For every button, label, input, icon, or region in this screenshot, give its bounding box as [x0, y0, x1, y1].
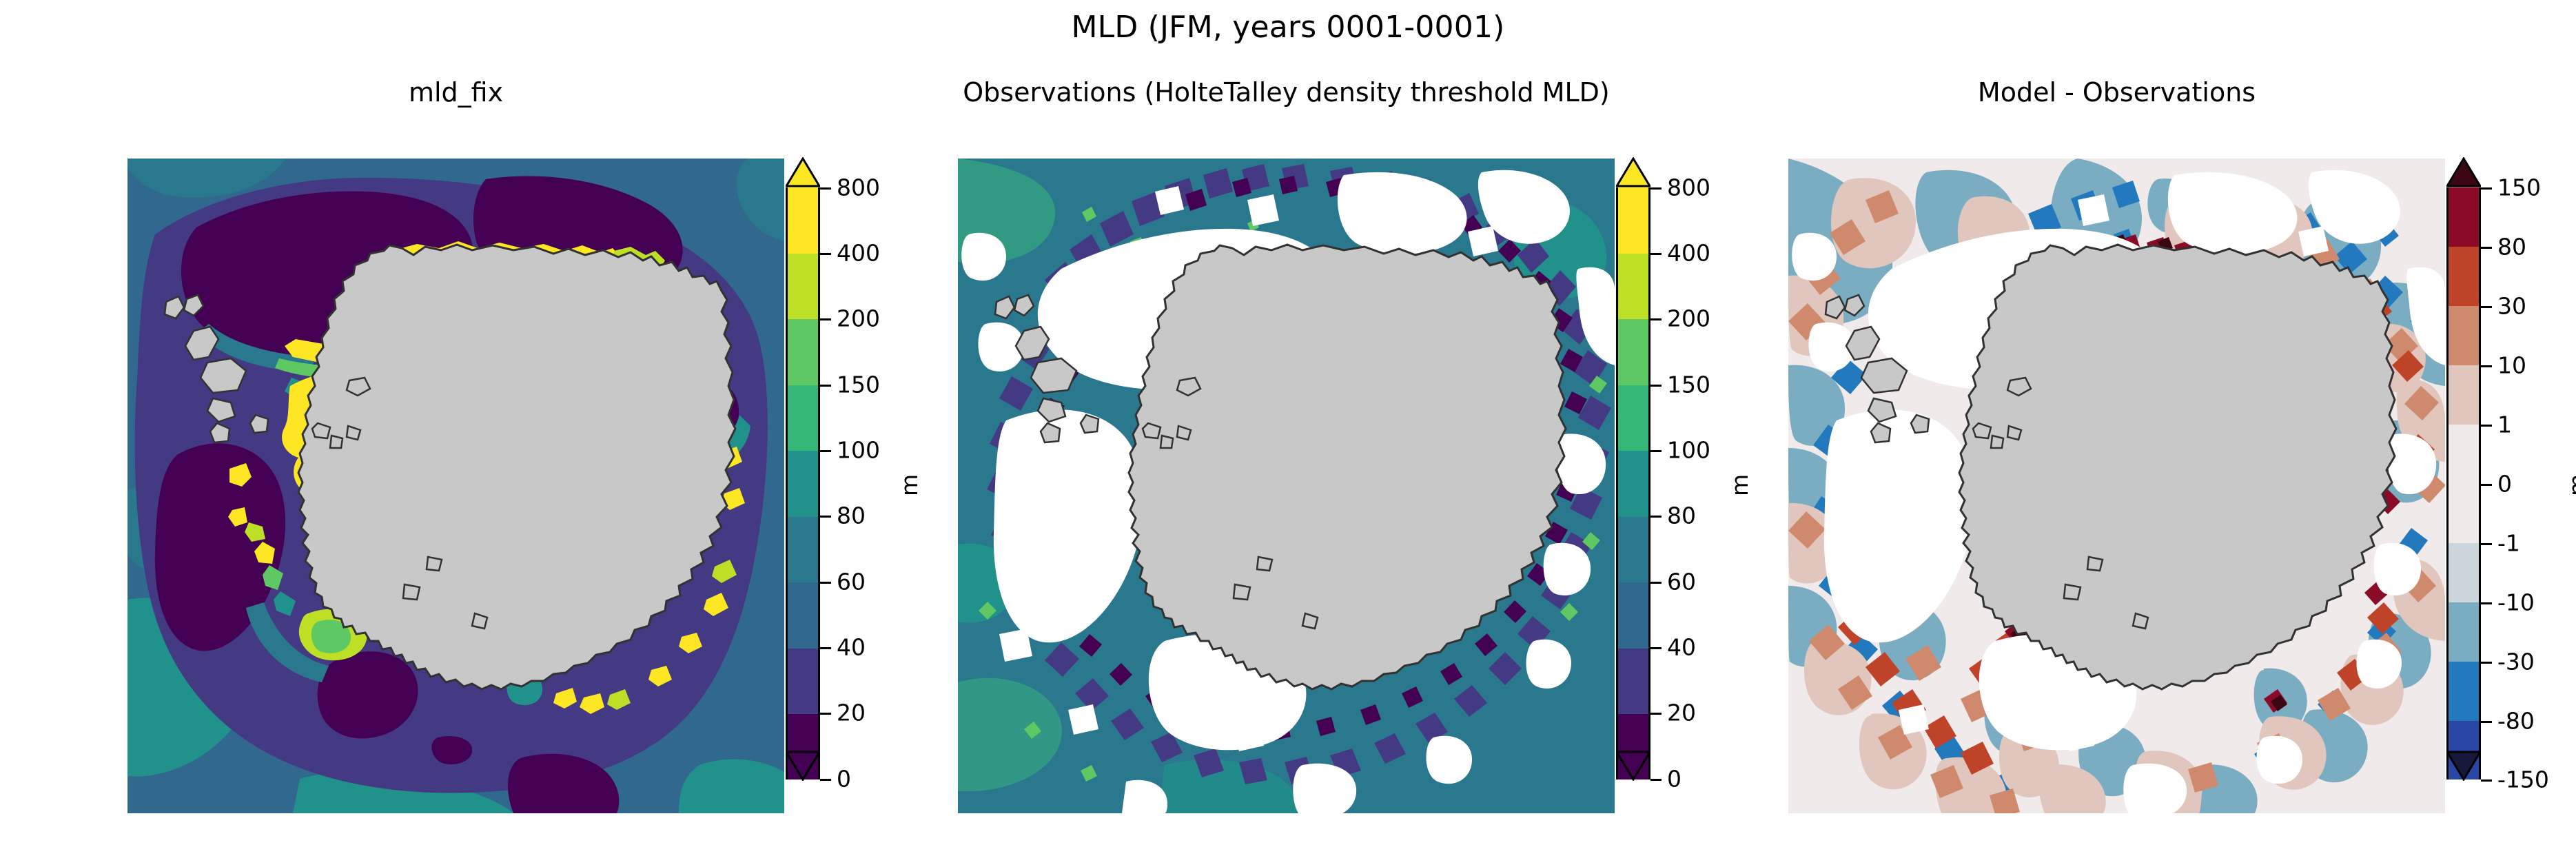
cbar-tick-label: 800	[837, 176, 880, 199]
cbar-tick-label: 150	[2497, 176, 2541, 199]
map-panel-difference[interactable]	[1788, 159, 2445, 813]
cbar-tick-label: -150	[2497, 768, 2549, 791]
cbar-tick-label: 60	[1667, 571, 1696, 593]
colorbar-model[interactable]: 800 400 200 150 100 80 60 40 20 0 m	[786, 159, 820, 779]
cbar-tick	[1650, 582, 1662, 584]
cbar-tick-label: 100	[1667, 439, 1710, 462]
cbar-tick-label: 10	[2497, 354, 2526, 377]
cbar-extend-over	[786, 157, 820, 187]
cbar-tick-label: -80	[2497, 710, 2535, 733]
cbar-tick-label: 80	[1667, 505, 1696, 527]
panel-title-observations: Observations (HolteTalley density thresh…	[958, 77, 1615, 108]
cbar-tick	[1650, 385, 1662, 387]
cbar-tick	[2481, 306, 2492, 308]
cbar-tick-label: 80	[837, 505, 866, 527]
cbar-tick	[2481, 543, 2492, 545]
cbar-tick	[1650, 647, 1662, 649]
model-mld-map	[127, 159, 784, 813]
cbar-tick	[2481, 484, 2492, 486]
cbar-tick	[820, 647, 831, 649]
colorbar-unit-label: m	[1726, 474, 1753, 496]
cbar-tick-label: 200	[1667, 307, 1710, 330]
cbar-tick-label: 0	[2497, 473, 2512, 496]
cbar-tick	[2481, 365, 2492, 367]
cbar-tick	[1650, 713, 1662, 715]
cbar-tick	[2481, 662, 2492, 664]
cbar-tick-label: 400	[1667, 242, 1710, 265]
cbar-extend-under	[786, 751, 820, 781]
cbar-tick	[2481, 187, 2492, 190]
cbar-tick-label: 20	[1667, 702, 1696, 724]
colorbar-difference[interactable]: 150 80 30 10 1 0 -1 -10 -30 -80 -150 m	[2446, 159, 2481, 779]
panel-title-difference: Model - Observations	[1788, 77, 2445, 108]
cbar-tick	[820, 187, 831, 190]
cbar-tick-label: 40	[1667, 636, 1696, 659]
cbar-outline	[786, 187, 820, 779]
cbar-tick	[1650, 318, 1662, 320]
cbar-tick	[820, 385, 831, 387]
model-minus-obs-map	[1788, 159, 2445, 813]
cbar-tick	[2481, 602, 2492, 604]
cbar-tick	[820, 318, 831, 320]
cbar-tick	[2481, 425, 2492, 427]
cbar-tick-label: 0	[837, 768, 851, 791]
cbar-tick	[1650, 187, 1662, 190]
cbar-extend-under	[2446, 751, 2481, 781]
panel-title-model: mld_fix	[127, 77, 784, 108]
colorbar-unit-label: m	[2564, 474, 2576, 496]
cbar-tick	[1650, 779, 1662, 781]
cbar-extend-over	[2446, 157, 2481, 187]
cbar-tick-label: -30	[2497, 651, 2535, 673]
cbar-tick	[820, 582, 831, 584]
cbar-tick-label: 400	[837, 242, 880, 265]
cbar-tick-label: 30	[2497, 295, 2526, 318]
cbar-tick-label: 200	[837, 307, 880, 330]
cbar-tick	[820, 779, 831, 781]
cbar-tick-label: 1	[2497, 414, 2512, 436]
cbar-tick	[2481, 779, 2492, 782]
cbar-extend-over	[1616, 157, 1650, 187]
cbar-extend-under	[1616, 751, 1650, 781]
cbar-tick-label: -1	[2497, 532, 2520, 555]
cbar-tick	[2481, 721, 2492, 723]
cbar-tick-label: 80	[2497, 236, 2526, 258]
cbar-tick	[820, 516, 831, 518]
cbar-tick-label: 0	[1667, 768, 1681, 791]
colorbar-unit-label: m	[896, 474, 923, 496]
cbar-outline	[2446, 187, 2481, 779]
cbar-tick-label: 40	[837, 636, 866, 659]
observations-mld-map	[958, 159, 1615, 813]
cbar-tick-label: 20	[837, 702, 866, 724]
cbar-tick-label: 150	[1667, 374, 1710, 396]
cbar-outline	[1616, 187, 1650, 779]
cbar-tick	[820, 253, 831, 255]
cbar-tick	[1650, 516, 1662, 518]
cbar-tick-label: 800	[1667, 176, 1710, 199]
cbar-tick-label: 100	[837, 439, 880, 462]
cbar-tick-label: -10	[2497, 591, 2535, 614]
cbar-tick	[1650, 253, 1662, 255]
cbar-tick-label: 60	[837, 571, 866, 593]
map-panel-model[interactable]	[127, 159, 784, 813]
figure-suptitle: MLD (JFM, years 0001-0001)	[0, 10, 2576, 45]
cbar-tick	[820, 450, 831, 452]
cbar-tick-label: 150	[837, 374, 880, 396]
cbar-tick	[820, 713, 831, 715]
colorbar-observations[interactable]: 800 400 200 150 100 80 60 40 20 0 m	[1616, 159, 1650, 779]
cbar-tick	[2481, 247, 2492, 249]
cbar-tick	[1650, 450, 1662, 452]
map-panel-observations[interactable]	[958, 159, 1615, 813]
